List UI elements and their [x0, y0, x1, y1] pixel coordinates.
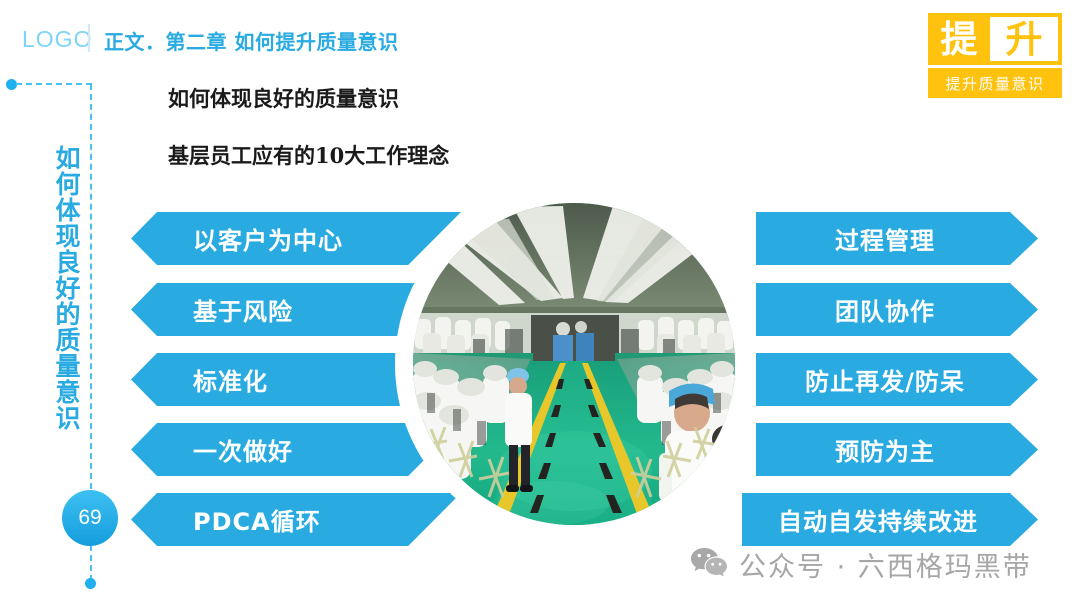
- lead-heading-primary: 如何体现良好的质量意识: [168, 83, 399, 113]
- banner-left-2-label: 基于风险: [193, 292, 293, 327]
- banner-right-4[interactable]: 预防为主: [756, 423, 1038, 476]
- banner-left-1[interactable]: 以客户为中心: [131, 212, 461, 265]
- watermark-text: 公众号 · 六西格玛黑带: [739, 545, 1032, 584]
- section-vertical-title: 如何体现良好的质量意识: [44, 145, 80, 431]
- banner-left-4-label: 一次做好: [193, 432, 293, 467]
- banner-right-3-label: 防止再发/防呆: [805, 362, 965, 397]
- slide-header: LOGO 正文．第二章 如何提升质量意识: [0, 0, 1080, 72]
- banner-right-4-label: 预防为主: [835, 432, 935, 467]
- banner-left-5-label: PDCA循环: [193, 502, 321, 537]
- banner-left-1-label: 以客户为中心: [193, 221, 343, 256]
- wechat-icon: [690, 547, 728, 582]
- rail-dashed-line-vertical-lower: [90, 545, 92, 581]
- brand-char-second: 升: [990, 17, 1058, 61]
- factory-photo: [413, 203, 735, 525]
- rail-dot-bottom: [85, 578, 96, 589]
- banner-right-2-label: 团队协作: [835, 292, 935, 327]
- page-title: 正文．第二章 如何提升质量意识: [104, 26, 398, 55]
- banner-right-5[interactable]: 自动自发持续改进: [742, 493, 1038, 546]
- banner-right-5-label: 自动自发持续改进: [778, 502, 978, 537]
- banner-right-1-label: 过程管理: [835, 221, 935, 256]
- factory-photo-illustration: [413, 203, 735, 525]
- watermark: 公众号 · 六西格玛黑带: [690, 545, 1032, 584]
- logo-placeholder: LOGO: [22, 26, 92, 53]
- brand-logo-top: 提 升: [928, 13, 1062, 65]
- brand-tagline: 提升质量意识: [928, 68, 1062, 98]
- rail-dashed-line-vertical-upper: [90, 84, 92, 489]
- banner-left-3-label: 标准化: [193, 362, 268, 397]
- lead-heading-secondary: 基层员工应有的10大工作理念: [168, 140, 449, 170]
- banner-right-2[interactable]: 团队协作: [756, 283, 1038, 336]
- banner-left-5[interactable]: PDCA循环: [131, 493, 461, 546]
- brand-logo: 提 升 提升质量意识: [928, 13, 1062, 98]
- rail-dashed-line-horizontal: [16, 83, 92, 85]
- slide-canvas: LOGO 正文．第二章 如何提升质量意识 提 升 提升质量意识 如何体现良好的质…: [0, 0, 1080, 608]
- brand-char-first: 提: [928, 13, 990, 65]
- header-divider: [88, 24, 90, 52]
- banner-right-1[interactable]: 过程管理: [756, 212, 1038, 265]
- page-number-badge: 69: [62, 490, 118, 546]
- banner-right-3[interactable]: 防止再发/防呆: [756, 353, 1038, 406]
